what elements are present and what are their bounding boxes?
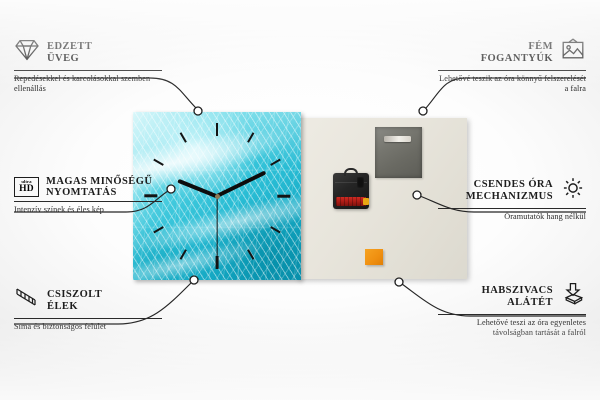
feature-divider (14, 318, 162, 319)
feature-divider (14, 70, 162, 71)
feature-title-line1: EDZETT (47, 41, 92, 52)
feature-high-quality-print: ultra HD MAGAS MINŐSÉGŰ NYOMTATÁS Intenz… (14, 176, 162, 215)
connector-dot-polished-edges (190, 276, 198, 284)
feature-divider (438, 70, 586, 71)
connector-dot-tempered-glass (194, 107, 202, 115)
gear-icon (560, 176, 586, 205)
feature-description: Óramutatók hang nélkül (438, 212, 586, 223)
feature-metal-handles: FÉM FOGANTYÚK Lehetővé teszik az óra kön… (438, 38, 586, 95)
picture-hanger-icon (560, 38, 586, 67)
feature-title-line2: ALÁTÉT (482, 297, 553, 308)
polished-edges-icon (14, 286, 40, 315)
feature-title-line1: FÉM (481, 41, 553, 52)
diamond-icon (14, 38, 40, 67)
feature-quiet-mechanism: CSENDES ÓRA MECHANIZMUS Óramutatók hang … (438, 176, 586, 222)
feature-tempered-glass: EDZETT ÜVEG Repedésekkel és karcolásokka… (14, 38, 162, 95)
feature-description: Sima és biztonságos felület (14, 322, 162, 333)
feature-description: Repedésekkel és karcolásokkal szemben el… (14, 74, 162, 95)
feature-title-line2: FOGANTYÚK (481, 53, 553, 64)
infographic-canvas: EDZETT ÜVEG Repedésekkel és karcolásokka… (0, 0, 600, 400)
feature-description: Lehetővé teszik az óra könnyű felszerelé… (438, 74, 586, 95)
feature-divider (438, 208, 586, 209)
feature-title-line2: MECHANIZMUS (466, 191, 553, 202)
ultra-hd-badge-main-text: HD (19, 185, 34, 195)
connector-dot-quiet-mechanism (413, 191, 421, 199)
feature-description: Lehetővé teszi az óra egyenletes távolsá… (438, 318, 586, 339)
ultra-hd-badge-icon: ultra HD (14, 177, 39, 197)
foam-pad-arrow-icon (560, 282, 586, 311)
feature-title-line1: HABSZIVACS (482, 285, 553, 296)
feature-title-line1: CSENDES ÓRA (466, 179, 553, 190)
feature-divider (438, 314, 586, 315)
feature-polished-edges: CSISZOLT ÉLEK Sima és biztonságos felüle… (14, 286, 162, 332)
feature-title-line2: ÜVEG (47, 53, 92, 64)
feature-description: Intenzív színek és éles kép (14, 205, 162, 216)
feature-title-line2: ÉLEK (47, 301, 102, 312)
feature-title-line1: MAGAS MINŐSÉGŰ (46, 176, 152, 187)
feature-title-line2: NYOMTATÁS (46, 187, 152, 198)
feature-foam-pad: HABSZIVACS ALÁTÉT Lehetővé teszi az óra … (438, 282, 586, 339)
connector-dot-high-quality-print (167, 185, 175, 193)
feature-title-line1: CSISZOLT (47, 289, 102, 300)
feature-divider (14, 201, 162, 202)
connector-dot-metal-handles (419, 107, 427, 115)
connector-dot-foam-pad (395, 278, 403, 286)
